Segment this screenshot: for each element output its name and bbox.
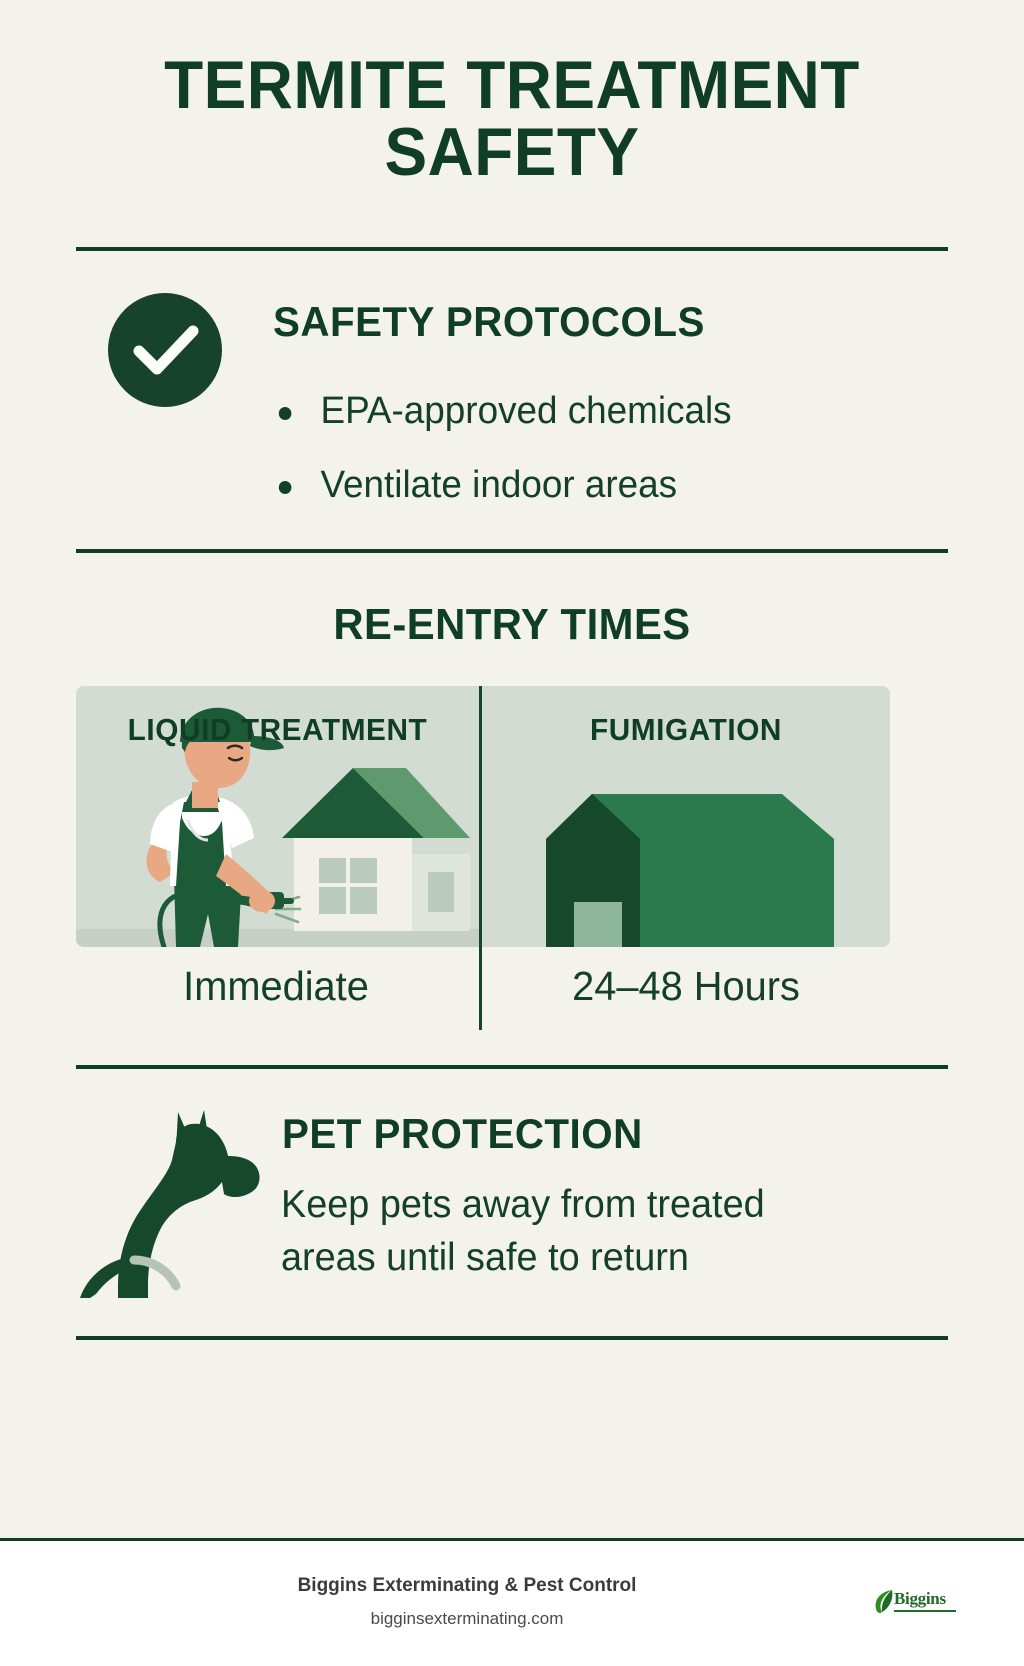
bullet-dot-icon — [279, 481, 292, 494]
fumigation-caption: 24–48 Hours — [488, 963, 884, 1010]
divider-rule-bottom — [76, 1336, 948, 1340]
pet-protection-body-line-2: areas until safe to return — [281, 1231, 863, 1284]
title-line-2: SAFETY — [89, 119, 935, 186]
fumigation-label: FUMIGATION — [490, 712, 882, 748]
liquid-treatment-label: LIQUID TREATMENT — [84, 712, 471, 748]
title-line-1: TERMITE TREATMENT — [89, 52, 935, 119]
footer-company-name: Biggins Exterminating & Pest Control — [0, 1575, 1024, 1597]
bullet-dot-icon — [279, 407, 292, 420]
list-item-label: EPA-approved chemicals — [321, 390, 732, 432]
infographic-poster: TERMITE TREATMENT SAFETY SAFETY PROTOCOL… — [0, 0, 1024, 1666]
footer-logo-text: Biggins — [894, 1589, 946, 1609]
list-item: EPA-approved chemicals — [272, 374, 912, 448]
list-item-label: Ventilate indoor areas — [321, 464, 678, 506]
fumigation-panel: FUMIGATION — [482, 686, 890, 947]
page-title: TERMITE TREATMENT SAFETY — [89, 52, 935, 185]
divider-rule-third — [76, 1065, 948, 1069]
footer-website-url[interactable]: bigginsexterminating.com — [0, 1609, 1024, 1629]
footer-logo: Biggins — [872, 1585, 958, 1619]
footer: Biggins Exterminating & Pest Control big… — [0, 1541, 1024, 1666]
pet-protection-heading: PET PROTECTION — [282, 1110, 643, 1158]
pet-protection-body: Keep pets away from treated areas until … — [281, 1178, 863, 1284]
liquid-treatment-caption: Immediate — [82, 963, 470, 1010]
divider-rule-top — [76, 247, 948, 251]
footer-logo-underline — [894, 1610, 956, 1612]
check-circle-icon — [108, 293, 222, 407]
list-item: Ventilate indoor areas — [272, 448, 912, 522]
safety-protocols-heading: SAFETY PROTOCOLS — [273, 298, 705, 346]
dog-silhouette-icon — [72, 1098, 267, 1298]
divider-rule-second — [76, 549, 948, 553]
reentry-times-heading: RE-ENTRY TIMES — [85, 600, 940, 650]
pet-protection-body-line-1: Keep pets away from treated — [281, 1178, 863, 1231]
green-leaf-icon — [872, 1587, 896, 1615]
panel-divider — [479, 686, 482, 1030]
safety-protocols-list: EPA-approved chemicals Ventilate indoor … — [272, 374, 932, 522]
liquid-treatment-panel: LIQUID TREATMENT — [76, 686, 479, 947]
reentry-panel: LIQUID TREATMENT FUMIGATION — [76, 686, 890, 947]
